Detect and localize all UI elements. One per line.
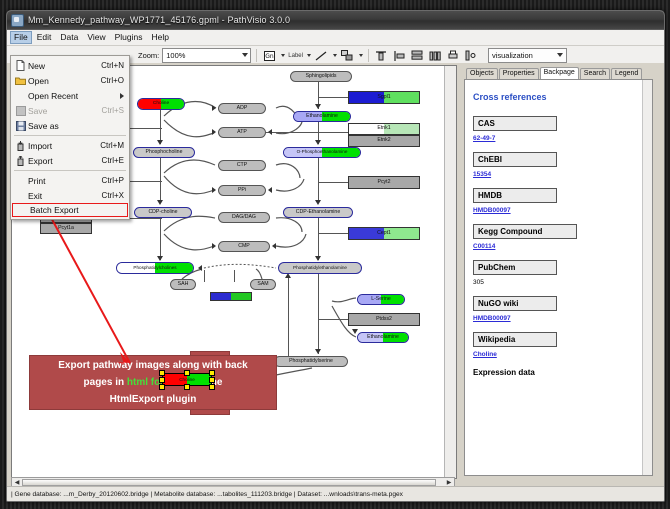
window-title: Mm_Kennedy_pathway_WP1771_45176.gpml - P…: [28, 15, 290, 25]
label-dropdown-icon[interactable]: [307, 54, 311, 57]
new-document-icon: [13, 59, 28, 72]
backpage-panel: Cross references CAS 62-49-7 ChEBI 15354…: [464, 79, 653, 476]
menu-file[interactable]: File: [10, 31, 32, 44]
tab-properties[interactable]: Properties: [499, 68, 539, 80]
menu-item-save-label: Save: [28, 106, 102, 116]
menu-item-export-shortcut: Ctrl+E: [102, 156, 129, 165]
distribute-tool-icon[interactable]: [428, 49, 443, 63]
align-left-tool-icon[interactable]: [392, 49, 407, 63]
tab-backpage[interactable]: Backpage: [540, 67, 579, 80]
xref-value-wikipedia[interactable]: Choline: [473, 351, 640, 358]
pathvisio-window: Mm_Kennedy_pathway_WP1771_45176.gpml - P…: [6, 10, 665, 502]
selected-choline-node[interactable]: Choline: [162, 373, 212, 386]
print-tool-icon[interactable]: [446, 49, 461, 63]
menu-bar: File Edit Data View Plugins Help: [7, 30, 664, 46]
scroll-left-icon[interactable]: ◀: [12, 478, 22, 487]
xref-label-nugo: NuGO wiki: [473, 296, 557, 311]
side-panel-tabs: Objects Properties Backpage Search Legen…: [459, 65, 659, 79]
line-dropdown-icon[interactable]: [333, 54, 337, 57]
backpage-content: Cross references CAS 62-49-7 ChEBI 15354…: [473, 86, 640, 377]
xref-label-pubchem: PubChem: [473, 260, 557, 275]
menu-item-print-label: Print: [28, 176, 102, 186]
tab-legend[interactable]: Legend: [611, 68, 642, 80]
open-recent-spacer: [13, 89, 28, 102]
menu-item-batch-export[interactable]: Batch Export: [12, 203, 128, 217]
chevron-down-icon: [242, 53, 248, 57]
visualization-value: visualization: [492, 51, 533, 60]
menu-item-save-as-label: Save as: [28, 121, 124, 131]
line-tool-icon[interactable]: [314, 49, 329, 63]
menu-item-new-label: New: [28, 61, 101, 71]
zoom-value: 100%: [166, 51, 185, 60]
menu-item-open-recent[interactable]: Open Recent: [11, 88, 129, 103]
xref-value-hmdb[interactable]: HMDB00097: [473, 207, 640, 214]
menu-separator-2: [14, 170, 126, 171]
xref-label-hmdb: HMDB: [473, 188, 557, 203]
menu-item-open-shortcut: Ctrl+O: [101, 76, 129, 85]
title-bar: Mm_Kennedy_pathway_WP1771_45176.gpml - P…: [7, 11, 664, 30]
xref-value-cas[interactable]: 62-49-7: [473, 135, 640, 142]
xref-value-chebi[interactable]: 15354: [473, 171, 640, 178]
align-top-tool-icon[interactable]: [374, 49, 389, 63]
menu-item-open[interactable]: Open Ctrl+O: [11, 73, 129, 88]
xref-value-nugo[interactable]: HMDB00097: [473, 315, 640, 322]
toolbar-separator: [256, 49, 257, 62]
menu-data[interactable]: Data: [56, 31, 82, 44]
save-disk-icon: [13, 104, 28, 117]
toolbar-separator-2: [368, 49, 369, 62]
tab-search[interactable]: Search: [580, 68, 610, 80]
menu-item-save-as[interactable]: Save as: [11, 118, 129, 133]
xref-value-pubchem: 305: [473, 279, 640, 286]
align-stack-tool-icon[interactable]: [410, 49, 425, 63]
submenu-arrow-icon: [120, 93, 124, 99]
scroll-right-icon[interactable]: ▶: [444, 478, 454, 487]
menu-item-open-label: Open: [28, 76, 101, 86]
save-as-icon: [13, 119, 28, 132]
menu-item-import-label: Import: [28, 141, 100, 151]
pathvisio-icon: [11, 14, 24, 27]
menu-item-export[interactable]: Export Ctrl+E: [11, 153, 129, 168]
gene-product-tool-icon[interactable]: Gn: [262, 49, 277, 63]
panel-vertical-scrollbar[interactable]: [642, 80, 652, 475]
menu-item-save-shortcut: Ctrl+S: [102, 106, 129, 115]
zoom-combo[interactable]: 100%: [162, 48, 251, 63]
xref-label-kegg: Kegg Compound: [473, 224, 577, 239]
exit-menu-spacer: [13, 189, 28, 202]
status-bar-text: | Gene database: ...m_Derby_20120602.bri…: [11, 491, 403, 498]
menu-item-save[interactable]: Save Ctrl+S: [11, 103, 129, 118]
shape-dropdown-icon[interactable]: [359, 54, 363, 57]
batch-export-spacer: [15, 204, 30, 217]
menu-item-print[interactable]: Print Ctrl+P: [11, 173, 129, 188]
common-width-tool-icon[interactable]: [464, 49, 479, 63]
menu-separator-1: [14, 135, 126, 136]
gene-product-dropdown-icon[interactable]: [281, 54, 285, 57]
menu-view[interactable]: View: [83, 31, 109, 44]
selected-choline-label: Choline: [162, 373, 212, 386]
side-panel: Objects Properties Backpage Search Legen…: [459, 65, 659, 477]
menu-item-import[interactable]: Import Ctrl+M: [11, 138, 129, 153]
tab-objects[interactable]: Objects: [466, 68, 498, 80]
visualization-combo[interactable]: visualization: [488, 48, 567, 63]
xref-label-cas: CAS: [473, 116, 557, 131]
menu-item-print-shortcut: Ctrl+P: [102, 176, 129, 185]
zoom-label: Zoom:: [138, 51, 159, 60]
label-tool-text[interactable]: Label: [288, 53, 303, 59]
menu-item-export-label: Export: [28, 156, 102, 166]
status-bar: | Gene database: ...m_Derby_20120602.bri…: [7, 486, 664, 501]
export-icon: [13, 154, 28, 167]
menu-item-batch-export-label: Batch Export: [30, 205, 127, 215]
menu-item-exit-label: Exit: [28, 191, 102, 201]
menu-item-exit[interactable]: Exit Ctrl+X: [11, 188, 129, 203]
xref-value-kegg[interactable]: C00114: [473, 243, 640, 250]
cross-references-heading: Cross references: [473, 92, 640, 102]
menu-item-exit-shortcut: Ctrl+X: [102, 191, 129, 200]
xref-label-chebi: ChEBI: [473, 152, 557, 167]
open-folder-icon: [13, 74, 28, 87]
print-menu-spacer: [13, 174, 28, 187]
xref-label-wikipedia: Wikipedia: [473, 332, 557, 347]
menu-edit[interactable]: Edit: [33, 31, 56, 44]
expression-data-heading: Expression data: [473, 368, 640, 377]
scroll-thumb[interactable]: [22, 479, 436, 486]
file-menu-dropdown: New Ctrl+N Open Ctrl+O Open Recent Save …: [10, 55, 130, 220]
chevron-down-icon-2: [557, 53, 563, 57]
menu-item-new-shortcut: Ctrl+N: [101, 61, 129, 70]
menu-item-import-shortcut: Ctrl+M: [100, 141, 129, 150]
menu-item-open-recent-label: Open Recent: [28, 91, 129, 101]
shape-tool-icon[interactable]: [340, 49, 355, 63]
svg-text:Gn: Gn: [266, 53, 275, 60]
menu-plugins[interactable]: Plugins: [111, 31, 147, 44]
import-icon: [13, 139, 28, 152]
menu-item-new[interactable]: New Ctrl+N: [11, 58, 129, 73]
menu-help[interactable]: Help: [148, 31, 173, 44]
